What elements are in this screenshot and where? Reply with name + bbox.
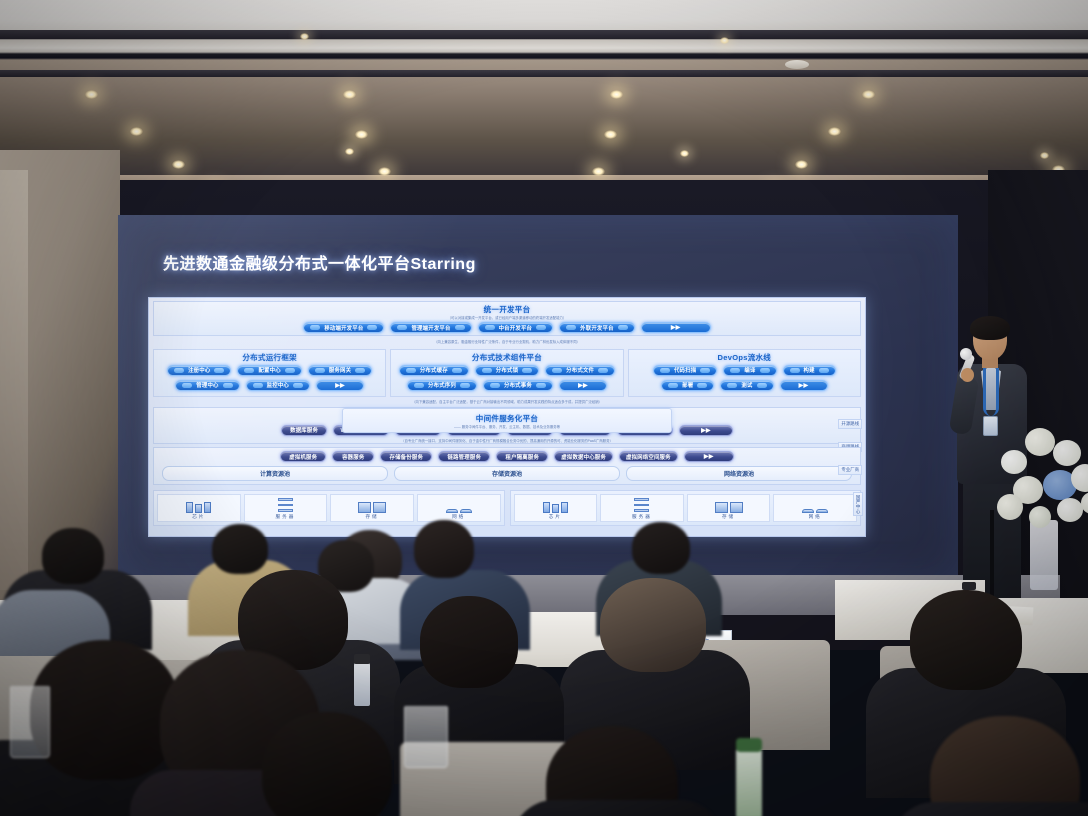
middleware-title-card: 中间件服务化平台 —— 服务中间件平台、服务、开发、云主机、数据、技术及业务服务… — [342, 408, 672, 433]
ceiling-spot-light — [862, 90, 875, 99]
side-tag-vertical: 国产中心 — [853, 492, 863, 516]
resource-pools: 计算资源池 存储资源池 网络资源池 — [154, 464, 860, 484]
band-title-unified-dev: 统一开发平台 — [154, 302, 860, 315]
band-note-unified-dev: （可以对接或集成一开发平台，或已经用户端多渠道移动的终端开发适配能力） — [154, 315, 860, 320]
band-unified-dev-platform: 统一开发平台 （可以对接或集成一开发平台，或已经用户端多渠道移动的终端开发适配能… — [153, 301, 861, 336]
speaker-leg-gap — [990, 510, 994, 602]
hardware-label-network: 网络 — [809, 514, 822, 520]
column-title-devops-pipeline: DevOps流水线 — [629, 350, 860, 363]
hardware-label-server: 服务器 — [632, 514, 652, 520]
attendee-head — [42, 528, 104, 584]
hardware-cell-network: 网络 — [773, 494, 857, 522]
pill-database-service[interactable]: 数据库服务 — [281, 425, 327, 436]
footnote-unified-dev: （向上兼容原生、融金融行业特性广泛条件，自于专业行业契机，助力广林优发标入成体服… — [149, 339, 865, 346]
footnote-middleware: （自专业广商统一接口，支持中间件服务化、自于金中性行厂商规模融合业务中优的、提高… — [154, 438, 860, 443]
hardware-label-storage: 存储 — [722, 514, 735, 520]
hardware-cell-network: 网络 — [417, 494, 501, 522]
pill-more-distributed-runtime[interactable]: ▶▶ — [316, 380, 364, 391]
attendee-head — [262, 712, 392, 816]
pill-storage-backup-service[interactable]: 存储备份服务 — [380, 451, 432, 462]
floral-arrangement — [995, 420, 1088, 550]
pill-external-dev-platform[interactable]: 外联开发平台 — [559, 322, 635, 333]
footnote-middle: （向下兼容适配，自主平台广泛适配，基于云广商对接输出不同领域，助力成果开发实践的… — [149, 399, 865, 404]
resource-items: 虚拟机服务 容器服务 存储备份服务 链路管理服务 租户隔离服务 虚拟数据中心服务… — [154, 448, 860, 464]
slide-title: 先进数通金融级分布式一体化平台Starring — [163, 250, 476, 274]
ceiling-beam — [0, 30, 1088, 39]
attendee-head — [30, 640, 180, 780]
attendee-body — [512, 800, 722, 816]
bottle-cap — [736, 738, 762, 752]
pill-redis-service[interactable]: Redis服务 — [395, 425, 441, 436]
ceiling-spot-light — [85, 90, 98, 99]
network-icon — [446, 498, 472, 513]
column-devops-pipeline: DevOps流水线 代码扫描 编译 构建 部署 测试 ▶▶ — [628, 349, 861, 397]
attendee-head — [600, 578, 706, 672]
storage-icon — [715, 498, 743, 513]
pool-network[interactable]: 网络资源池 — [626, 466, 852, 481]
ceiling — [0, 0, 1088, 200]
pill-vm-service[interactable]: 虚拟机服务 — [280, 451, 326, 462]
ceiling-spot-light — [610, 90, 623, 99]
pill-more-middleware[interactable]: ▶▶ — [679, 425, 733, 436]
attendee-head — [910, 590, 1022, 690]
conference-photo: 先进数通金融级分布式一体化平台Starring 统一开发平台 （可以对接或集成一… — [0, 0, 1088, 816]
ceiling-spot-light — [1040, 152, 1049, 159]
server-icon — [278, 498, 293, 513]
ceiling-spot-light — [343, 90, 356, 99]
column-title-distributed-runtime: 分布式运行框架 — [154, 350, 385, 363]
chip-icon — [186, 498, 211, 513]
side-tag-professional-vendor: 专业厂商 — [838, 465, 862, 475]
middle-columns: 分布式运行框架 注册中心 配置中心 服务网关 管理中心 监控中心 ▶▶ 分布式技… — [149, 347, 865, 399]
smoke-detector-icon — [785, 60, 809, 69]
pill-container-service[interactable]: 容器服务 — [332, 451, 374, 462]
middleware-items: 数据库服务 WEB中间件服务 Redis服务 Rocketmq服务 Kafka服… — [154, 422, 860, 438]
speaker-hair — [970, 316, 1010, 340]
chip-icon — [543, 498, 568, 513]
ceiling-spot-light — [300, 33, 309, 40]
ceiling-spot-light — [828, 127, 841, 136]
slide-architecture-diagram: 统一开发平台 （可以对接或集成一开发平台，或已经用户端多渠道移动的终端开发适配能… — [148, 297, 866, 537]
pill-tenant-isolation-service[interactable]: 租户隔离服务 — [496, 451, 548, 462]
network-icon — [802, 498, 828, 513]
pill-monitor-center[interactable]: 监控中心 — [246, 380, 310, 391]
pill-more-devops[interactable]: ▶▶ — [780, 380, 828, 391]
hardware-cell-server: 服务器 — [600, 494, 684, 522]
pill-link-management-service[interactable]: 链路管理服务 — [438, 451, 490, 462]
pool-storage[interactable]: 存储资源池 — [394, 466, 620, 481]
ceiling-spot-light — [172, 160, 185, 169]
band-hardware: 芯片 服务器 存储 — [149, 488, 865, 529]
pill-config-center[interactable]: 配置中心 — [237, 365, 301, 376]
ceiling-spot-light — [345, 148, 354, 155]
attendee-head — [212, 524, 268, 574]
hardware-label-chip: 芯片 — [549, 514, 562, 520]
pill-elasticsearch-service[interactable]: Elasticsearch服务 — [617, 425, 673, 436]
bottle-cap — [962, 582, 976, 590]
water-bottle — [736, 748, 762, 816]
ceiling-spot-light — [378, 167, 391, 176]
left-wall-panel — [0, 170, 28, 590]
pill-more-distributed-components[interactable]: ▶▶ — [559, 380, 607, 391]
hardware-label-storage: 存储 — [365, 514, 378, 520]
pill-distributed-transaction[interactable]: 分布式事务 — [483, 380, 553, 391]
water-bottle — [354, 662, 370, 706]
ceiling-spot-light — [795, 160, 808, 169]
pill-admin-dev-platform[interactable]: 管理端开发平台 — [390, 322, 471, 333]
hardware-label-server: 服务器 — [276, 514, 296, 520]
pill-midplatform-dev-platform[interactable]: 中台开发平台 — [478, 322, 554, 333]
hardware-cell-chip: 芯片 — [157, 494, 241, 522]
band-resource-services: 虚拟机服务 容器服务 存储备份服务 链路管理服务 租户隔离服务 虚拟数据中心服务… — [153, 447, 861, 485]
speaker-lanyard — [983, 368, 999, 416]
column-title-distributed-components: 分布式技术组件平台 — [391, 350, 622, 363]
pill-deploy[interactable]: 部署 — [661, 380, 714, 391]
ceiling-spot-light — [680, 150, 689, 157]
pill-code-scan[interactable]: 代码扫描 — [653, 365, 717, 376]
ceiling-spot-light — [130, 127, 143, 136]
pill-virtual-datacenter-service[interactable]: 虚拟数据中心服务 — [554, 451, 613, 462]
storage-icon — [358, 498, 386, 513]
hardware-label-network: 网络 — [452, 514, 465, 520]
pill-more-resources[interactable]: ▶▶ — [684, 451, 734, 462]
speaker-hand — [961, 368, 974, 382]
side-tag-commercial: 商用路线 — [838, 442, 862, 452]
band-title-middleware: 中间件服务化平台 — [343, 411, 671, 424]
attendee-head — [632, 522, 690, 574]
pill-build[interactable]: 构建 — [783, 365, 836, 376]
side-tag-opensource: 开源路线 — [838, 419, 862, 429]
ceiling-beam — [0, 70, 1088, 77]
unified-dev-items: 移动端开发平台 管理端开发平台 中台开发平台 外联开发平台 ▶▶ — [154, 320, 860, 335]
pill-management-center[interactable]: 管理中心 — [175, 380, 239, 391]
attendee-head — [420, 596, 518, 688]
water-glass — [404, 706, 448, 768]
hardware-cell-server: 服务器 — [244, 494, 328, 522]
pill-service-gateway[interactable]: 服务网关 — [308, 365, 372, 376]
ceiling-spot-light — [604, 130, 617, 139]
pill-distributed-lock[interactable]: 分布式锁 — [475, 365, 539, 376]
pill-distributed-sequence[interactable]: 分布式序列 — [407, 380, 477, 391]
microphone-head — [960, 348, 972, 360]
pill-distributed-file[interactable]: 分布式文件 — [545, 365, 615, 376]
pill-registry-center[interactable]: 注册中心 — [167, 365, 231, 376]
ceiling-spot-light — [592, 167, 605, 176]
pool-compute[interactable]: 计算资源池 — [162, 466, 388, 481]
bottle-cap — [354, 654, 370, 664]
pill-mobile-dev-platform[interactable]: 移动端开发平台 — [303, 322, 384, 333]
hardware-cell-storage: 存储 — [330, 494, 414, 522]
hardware-cell-chip: 芯片 — [514, 494, 598, 522]
server-icon — [634, 498, 649, 513]
band-middleware-platform: 中间件服务化平台 —— 服务中间件平台、服务、开发、云主机、数据、技术及业务服务… — [153, 407, 861, 444]
pill-test[interactable]: 测试 — [720, 380, 773, 391]
hardware-group-right: 芯片 服务器 存储 — [510, 490, 862, 526]
pill-rocketmq-service[interactable]: Rocketmq服务 — [447, 425, 501, 436]
column-distributed-runtime: 分布式运行框架 注册中心 配置中心 服务网关 管理中心 监控中心 ▶▶ — [153, 349, 386, 397]
pill-kafka-service[interactable]: Kafka服务 — [507, 425, 553, 436]
pill-more-unified-dev[interactable]: ▶▶ — [641, 322, 711, 333]
hardware-label-chip: 芯片 — [192, 514, 205, 520]
hardware-cell-storage: 存储 — [687, 494, 771, 522]
pill-compile[interactable]: 编译 — [723, 365, 776, 376]
pill-distributed-cache[interactable]: 分布式缓存 — [399, 365, 469, 376]
attendee-head — [414, 520, 474, 578]
ceiling-spot-light — [355, 130, 368, 139]
ceiling-spot-light — [720, 37, 729, 44]
pill-mongodb-service[interactable]: Mongodb服务 — [559, 425, 611, 436]
pill-virtual-network-service[interactable]: 虚拟网络空间服务 — [619, 451, 678, 462]
attendee-body — [892, 802, 1088, 816]
water-glass — [10, 686, 50, 758]
column-distributed-components: 分布式技术组件平台 分布式缓存 分布式锁 分布式文件 分布式序列 分布式事务 ▶… — [390, 349, 623, 397]
pill-web-middleware-service[interactable]: WEB中间件服务 — [333, 425, 389, 436]
band-note-middleware: —— 服务中间件平台、服务、开发、云主机、数据、技术及业务服务等 — [343, 424, 671, 429]
